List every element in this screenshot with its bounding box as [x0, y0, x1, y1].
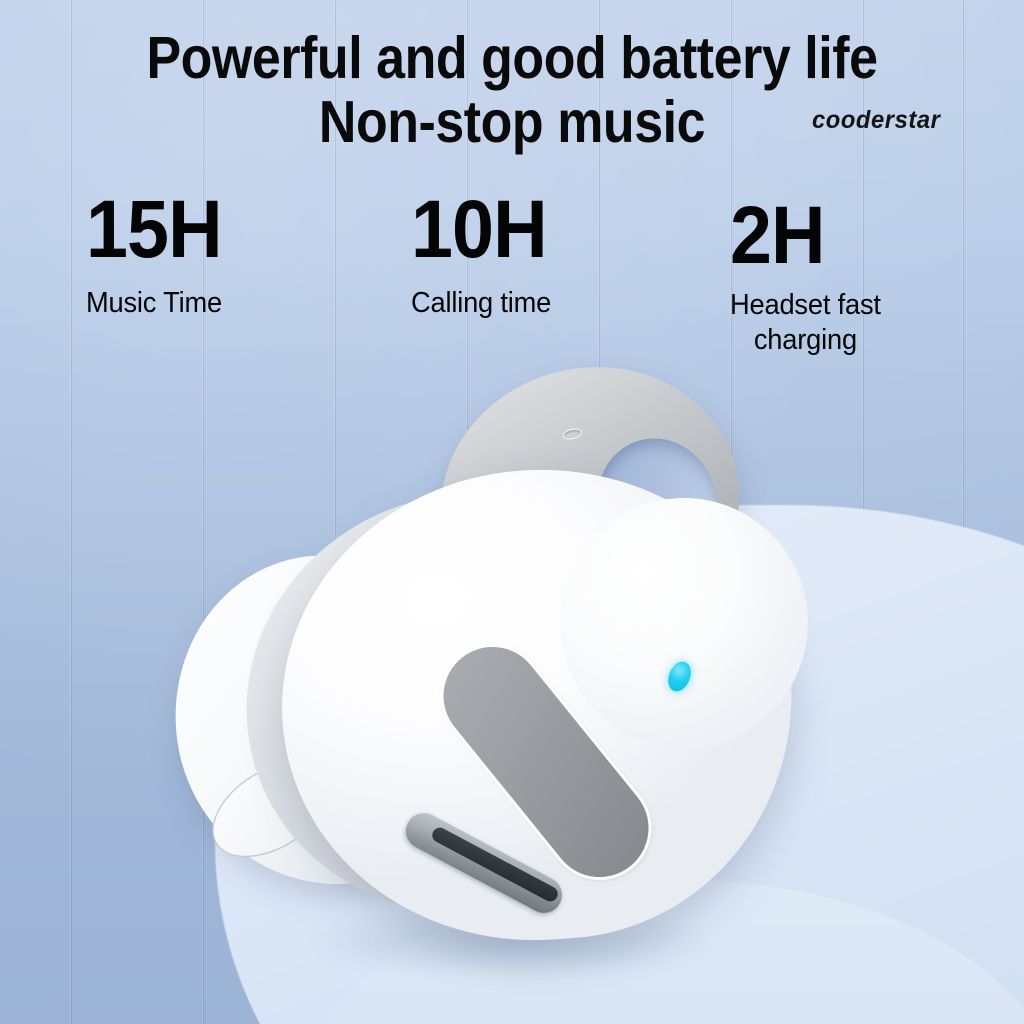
earbud-upper-bump [560, 498, 808, 748]
product-image-earbud [0, 0, 1024, 1024]
product-marketing-banner: Powerful and good battery life Non-stop … [0, 0, 1024, 1024]
